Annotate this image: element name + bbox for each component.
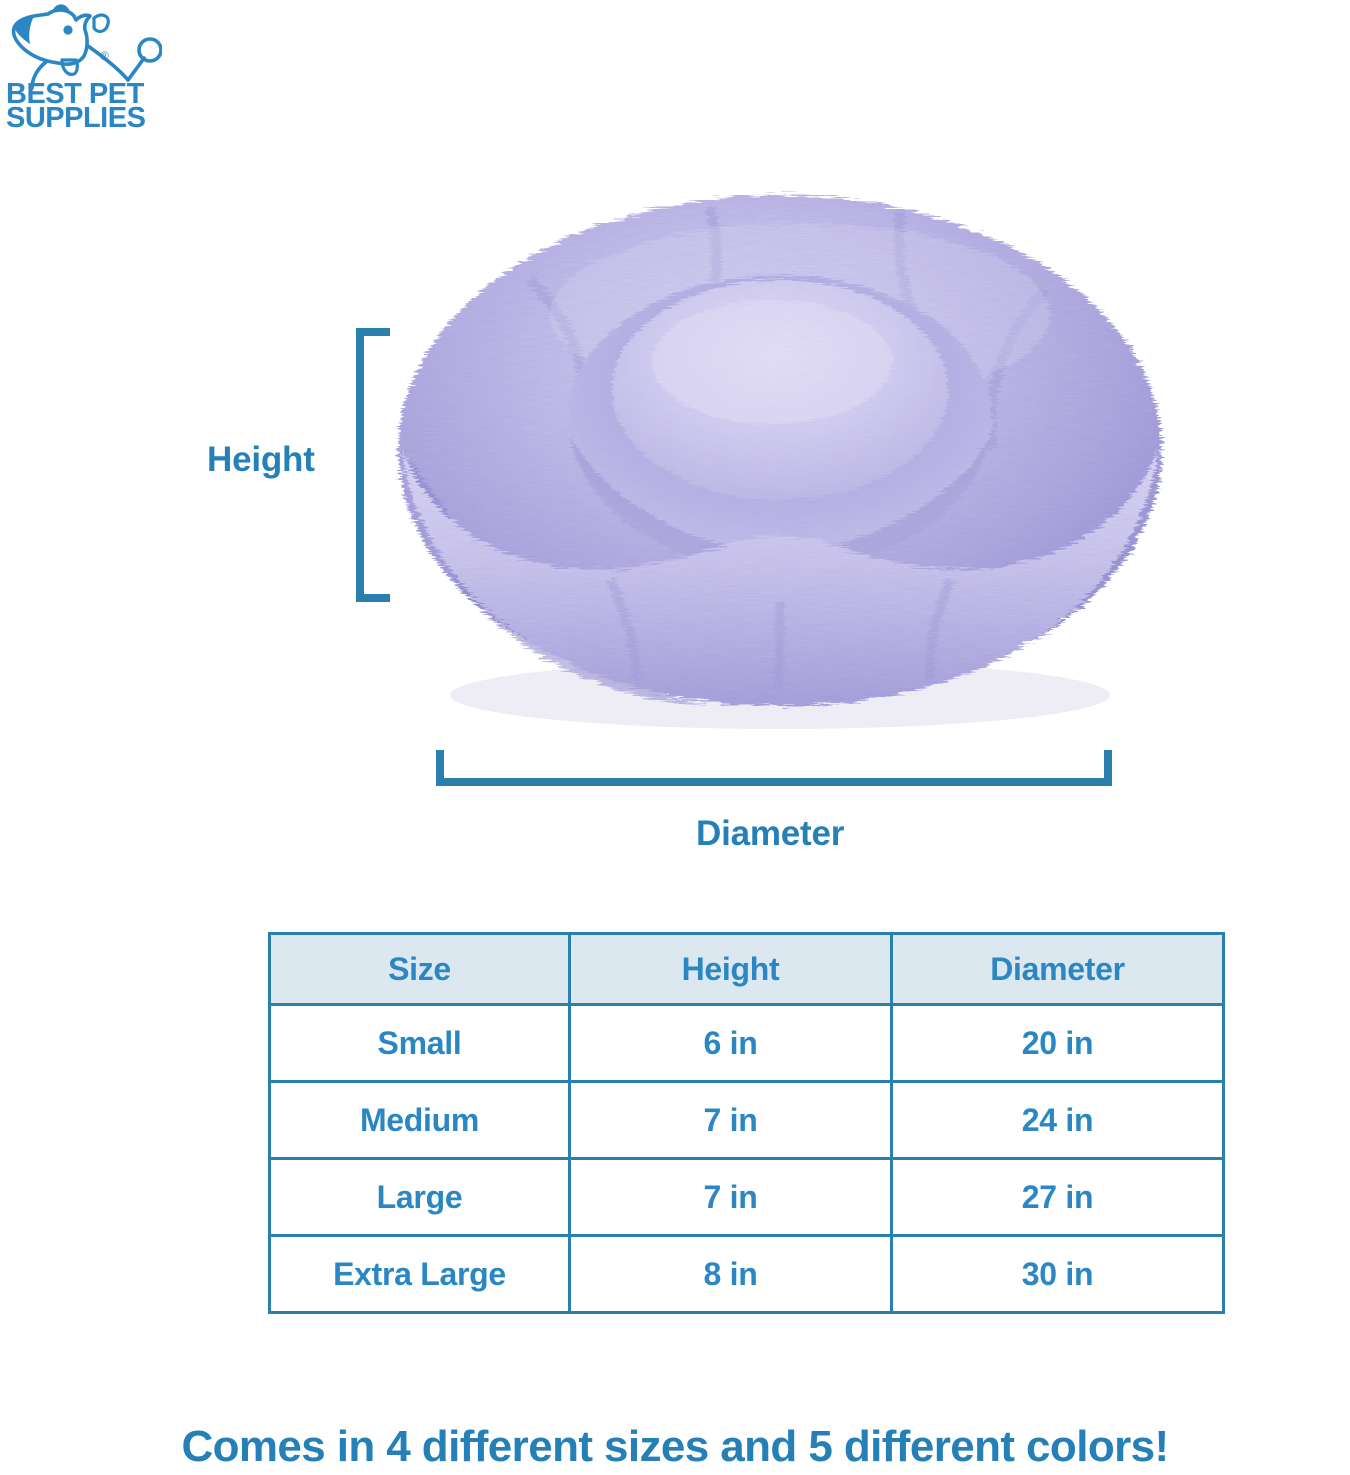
cell-diameter: 24 in [892,1082,1224,1159]
diameter-bracket-icon [436,750,1112,790]
cell-diameter: 30 in [892,1236,1224,1313]
cell-height: 6 in [570,1005,892,1082]
cell-diameter: 20 in [892,1005,1224,1082]
height-bracket-icon [352,328,392,602]
brand-logo: ® BEST PET SUPPLIES [2,2,162,130]
column-header-size: Size [270,934,570,1005]
cell-height: 7 in [570,1082,892,1159]
height-callout-label: Height [207,440,315,480]
dog-logo-icon [13,6,161,89]
cell-height: 7 in [570,1159,892,1236]
table-row: Medium 7 in 24 in [270,1082,1224,1159]
table-header-row: Size Height Diameter [270,934,1224,1005]
column-header-height: Height [570,934,892,1005]
cell-size: Small [270,1005,570,1082]
diameter-callout-label: Diameter [696,814,844,854]
cell-size: Large [270,1159,570,1236]
table-row: Extra Large 8 in 30 in [270,1236,1224,1313]
table-row: Large 7 in 27 in [270,1159,1224,1236]
bed-inner-cushion [612,280,948,500]
registered-trademark-mark: ® [100,49,109,63]
tagline-text: Comes in 4 different sizes and 5 differe… [0,1422,1350,1472]
brand-name-line2: SUPPLIES [6,102,146,130]
cell-size: Medium [270,1082,570,1159]
cell-diameter: 27 in [892,1159,1224,1236]
cell-size: Extra Large [270,1236,570,1313]
cell-height: 8 in [570,1236,892,1313]
size-chart-table: Size Height Diameter Small 6 in 20 in Me… [268,932,1225,1314]
table-row: Small 6 in 20 in [270,1005,1224,1082]
column-header-diameter: Diameter [892,934,1224,1005]
product-bed-image [380,150,1180,770]
